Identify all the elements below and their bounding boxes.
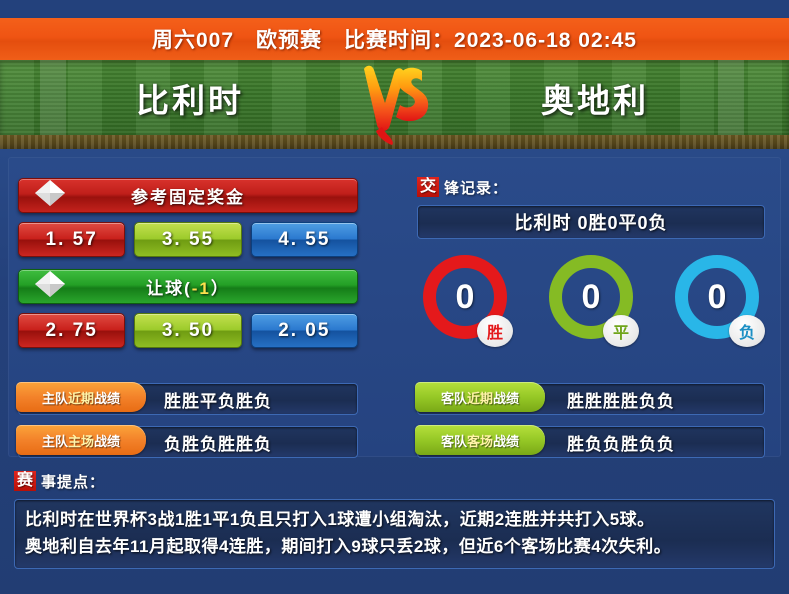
tips-section-header: 赛 事提点： <box>14 470 775 492</box>
handicap-odds-away-win[interactable]: 2. 05 <box>251 313 358 348</box>
h2h-section-header: 交 锋记录： <box>417 176 765 198</box>
vs-icon <box>352 55 438 147</box>
fixed-odds-title-bar: 参考固定奖金 <box>18 178 358 213</box>
tag-part-c: 战绩 <box>493 431 519 450</box>
tag-part-a: 客队 <box>441 431 467 450</box>
tag-part-c: 战绩 <box>94 431 120 450</box>
h2h-win-badge: 胜 <box>477 315 513 347</box>
home-home-form-tag: 主队主场战绩 <box>16 425 146 455</box>
h2h-section-label: 锋记录： <box>444 177 508 198</box>
fixed-odds-away-win[interactable]: 4. 55 <box>251 222 358 257</box>
fixed-odds-home-win[interactable]: 1. 57 <box>18 222 125 257</box>
away-recent-form-row: 客队近期战绩 胜胜胜胜负负 <box>417 383 765 415</box>
diamond-icon <box>29 265 71 307</box>
tag-part-b: 主场 <box>68 431 94 450</box>
h2h-column: 交 锋记录： 比利时 0胜0平0负 0 胜 0 平 0 <box>417 176 765 339</box>
match-header-title: 周六007 欧预赛 比赛时间：2023-06-18 02:45 <box>152 24 637 54</box>
tag-part-a: 客队 <box>441 388 467 407</box>
tips-line-1: 比利时在世界杯3战1胜1平1负且只打入1球遭小组淘汰，近期2连胜并共打入5球。 <box>25 506 764 533</box>
tag-part-c: 战绩 <box>94 388 120 407</box>
handicap-title-bar: 让球(-1） <box>18 269 358 304</box>
fixed-odds-draw[interactable]: 3. 55 <box>134 222 241 257</box>
match-header-bar: 周六007 欧预赛 比赛时间：2023-06-18 02:45 <box>0 18 789 60</box>
tips-line-2: 奥地利自去年11月起取得4连胜，期间打入9球只丢2球，但近6个客场比赛4次失利。 <box>25 533 764 560</box>
handicap-value: -1 <box>192 279 211 298</box>
tips-text-box: 比利时在世界杯3战1胜1平1负且只打入1球遭小组淘汰，近期2连胜并共打入5球。 … <box>14 499 775 569</box>
fixed-odds-title: 参考固定奖金 <box>131 183 245 208</box>
h2h-summary-bar: 比利时 0胜0平0负 <box>417 205 765 239</box>
fixed-odds-row: 1. 57 3. 55 4. 55 <box>18 222 358 257</box>
away-form-rows: 客队近期战绩 胜胜胜胜负负 客队客场战绩 胜负负胜负负 <box>417 372 765 458</box>
odds-column: 参考固定奖金 1. 57 3. 55 4. 55 让球(-1） 2. 75 <box>18 178 358 348</box>
top-margin <box>0 0 789 18</box>
away-away-form-row: 客队客场战绩 胜负负胜负负 <box>417 426 765 458</box>
h2h-ring-win: 0 胜 <box>423 255 507 339</box>
handicap-odds-draw[interactable]: 3. 50 <box>134 313 241 348</box>
h2h-ring-draw: 0 平 <box>549 255 633 339</box>
h2h-ring-loss: 0 负 <box>675 255 759 339</box>
handicap-title-prefix: 让球( <box>146 279 192 298</box>
away-away-form-tag: 客队客场战绩 <box>415 425 545 455</box>
handicap-title-suffix: ） <box>211 279 230 298</box>
away-team-name: 奥地利 <box>455 74 735 122</box>
handicap-odds-row: 2. 75 3. 50 2. 05 <box>18 313 358 348</box>
match-preview-card: 周六007 欧预赛 比赛时间：2023-06-18 02:45 比利时 奥地利 <box>0 0 789 594</box>
tag-part-c: 战绩 <box>493 388 519 407</box>
h2h-draw-count: 0 <box>582 278 601 317</box>
tag-part-a: 主队 <box>42 388 68 407</box>
handicap-odds-home-win[interactable]: 2. 75 <box>18 313 125 348</box>
tips-section-label: 事提点： <box>41 471 105 492</box>
match-tips-section: 赛 事提点： 比利时在世界杯3战1胜1平1负且只打入1球遭小组淘汰，近期2连胜并… <box>14 470 775 569</box>
h2h-summary-text: 比利时 0胜0平0负 <box>514 209 667 235</box>
home-recent-form-tag: 主队近期战绩 <box>16 382 146 412</box>
h2h-loss-count: 0 <box>708 278 727 317</box>
home-form-rows: 主队近期战绩 胜胜平负胜负 主队主场战绩 负胜负胜胜负 <box>18 372 358 458</box>
h2h-loss-badge: 负 <box>729 315 765 347</box>
h2h-win-count: 0 <box>456 278 475 317</box>
h2h-rings: 0 胜 0 平 0 负 <box>417 255 765 339</box>
handicap-title: 让球(-1） <box>146 274 230 299</box>
away-recent-form-tag: 客队近期战绩 <box>415 382 545 412</box>
tag-part-a: 主队 <box>42 431 68 450</box>
tag-part-b: 近期 <box>467 388 493 407</box>
tips-badge-icon: 赛 <box>14 471 36 491</box>
home-team-name: 比利时 <box>50 74 330 122</box>
home-home-form-row: 主队主场战绩 负胜负胜胜负 <box>18 426 358 458</box>
home-recent-form-row: 主队近期战绩 胜胜平负胜负 <box>18 383 358 415</box>
tag-part-b: 客场 <box>467 431 493 450</box>
diamond-icon <box>29 174 71 216</box>
tag-part-b: 近期 <box>68 388 94 407</box>
h2h-draw-badge: 平 <box>603 315 639 347</box>
h2h-badge-icon: 交 <box>417 177 439 197</box>
